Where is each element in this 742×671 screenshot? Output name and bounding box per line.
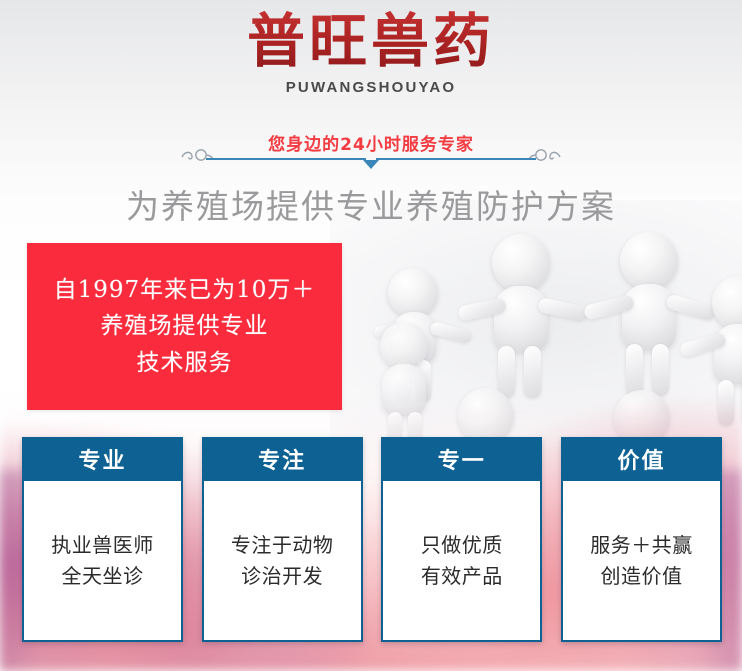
mannequin-figure [472,234,572,394]
feature-card-title: 专注 [202,437,363,481]
feature-card-line: 服务＋共赢 [590,530,693,561]
brand-block: 普旺兽药 PUWANGSHOUYAO [0,8,742,96]
slogan-rule-right [376,158,536,160]
feature-card-list: 专业 执业兽医师 全天坐诊 专注 专注于动物 诊治开发 专一 只做优质 有效产品… [22,437,722,642]
feature-card[interactable]: 专注 专注于动物 诊治开发 [202,437,363,642]
highlight-line: 养殖场提供专业 [101,308,269,344]
feature-card-line: 创造价值 [600,561,682,592]
highlight-line: 技术服务 [137,345,233,381]
brand-name-cn: 普旺兽药 [0,8,742,75]
feature-card-line: 专注于动物 [231,530,334,561]
feature-card-line: 执业兽医师 [51,530,154,561]
feature-card-title: 专一 [381,437,542,481]
page-title: 为养殖场提供专业养殖防护方案 [0,180,742,228]
feature-card-line: 诊治开发 [241,561,323,592]
feature-card-line: 有效产品 [421,561,503,592]
feature-card-body: 只做优质 有效产品 [381,481,542,642]
feature-card[interactable]: 专一 只做优质 有效产品 [381,437,542,642]
triangle-down-icon [363,160,379,169]
highlight-callout: 自1997年来已为10万＋ 养殖场提供专业 技术服务 [27,243,342,410]
mannequin-figure [372,322,446,442]
flourish-ornament-icon [180,144,214,166]
feature-card-title: 专业 [22,437,183,481]
flourish-ornament-icon [528,144,562,166]
mannequin-figure [700,276,742,416]
slogan-text: 您身边的24小时服务专家 [0,130,742,155]
slogan-block: 您身边的24小时服务专家 [0,130,742,174]
feature-card-title: 价值 [561,437,722,481]
feature-card[interactable]: 价值 服务＋共赢 创造价值 [561,437,722,642]
brand-name-en: PUWANGSHOUYAO [0,79,742,96]
mannequin-figure [378,268,456,398]
promotional-banner: 普旺兽药 PUWANGSHOUYAO 您身边的24小时服务专家 为养殖场提供专业… [0,0,742,671]
feature-card-body: 执业兽医师 全天坐诊 [22,481,183,642]
mannequin-figure [600,232,700,394]
highlight-line: 自1997年来已为10万＋ [54,272,316,308]
feature-card-line: 只做优质 [421,530,503,561]
feature-card-body: 专注于动物 诊治开发 [202,481,363,642]
feature-card-body: 服务＋共赢 创造价值 [561,481,722,642]
slogan-rule-left [206,158,366,160]
feature-card[interactable]: 专业 执业兽医师 全天坐诊 [22,437,183,642]
feature-card-line: 全天坐诊 [62,561,144,592]
